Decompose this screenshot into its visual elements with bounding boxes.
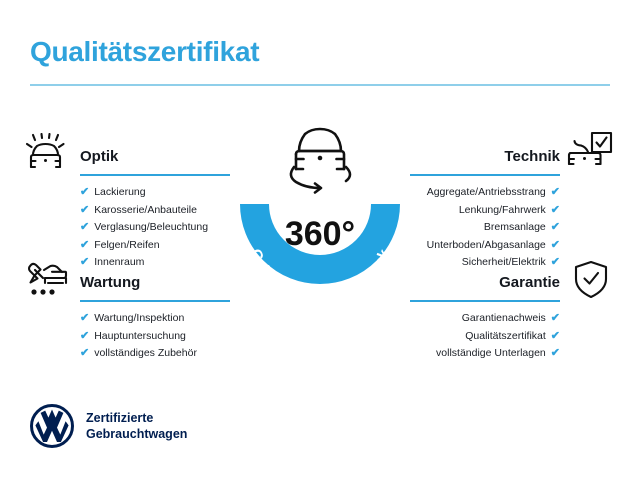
list-item-label: Lackierung <box>94 184 145 202</box>
shield-check-icon <box>570 259 612 301</box>
page-title: Qualitätszertifikat <box>30 36 259 68</box>
vw-logo <box>30 404 74 448</box>
section-wartung: Wartung ✔Wartung/Inspektion ✔Hauptunters… <box>80 272 230 363</box>
car-rotate-icon <box>291 129 350 193</box>
list-item-label: Garantienachweis <box>462 310 546 328</box>
list-item-label: Bremsanlage <box>484 219 546 237</box>
section-technik-header: Technik <box>410 146 560 176</box>
section-optik-list: ✔Lackierung ✔Karosserie/Anbauteile ✔Verg… <box>80 184 230 272</box>
section-wartung-title: Wartung <box>80 272 230 294</box>
list-item-label: Hauptuntersuchung <box>94 328 186 346</box>
section-technik: Technik Aggregate/Antriebsstrang✔ Lenkun… <box>410 146 560 272</box>
list-item-label: vollständige Unterlagen <box>436 345 546 363</box>
section-optik-title: Optik <box>80 146 230 168</box>
section-garantie-divider <box>410 300 560 302</box>
list-item-label: Qualitätszertifikat <box>465 328 546 346</box>
section-technik-divider <box>410 174 560 176</box>
check-icon: ✔ <box>551 240 560 251</box>
list-item: ✔Lackierung <box>80 184 230 202</box>
check-icon: ✔ <box>551 222 560 233</box>
section-wartung-header: Wartung <box>80 272 230 302</box>
check-icon: ✔ <box>80 348 89 359</box>
list-item: Bremsanlage✔ <box>410 219 560 237</box>
check-icon: ✔ <box>551 257 560 268</box>
list-item: Sicherheit/Elektrik✔ <box>410 254 560 272</box>
check-icon: ✔ <box>80 222 89 233</box>
section-wartung-divider <box>80 300 230 302</box>
list-item-label: Unterboden/Abgasanlage <box>427 237 546 255</box>
check-icon: ✔ <box>551 313 560 324</box>
list-item: Lenkung/Fahrwerk✔ <box>410 202 560 220</box>
footer-text: Zertifizierte Gebrauchtwagen <box>86 410 187 442</box>
check-icon: ✔ <box>80 187 89 198</box>
section-garantie: Garantie Garantienachweis✔ Qualitätszert… <box>410 272 560 363</box>
list-item: Aggregate/Antriebsstrang✔ <box>410 184 560 202</box>
badge-360-gebrauchtwagen-check: 360° Gebrauchtwagen-Check <box>228 112 412 308</box>
list-item-label: Sicherheit/Elektrik <box>462 254 546 272</box>
list-item: Unterboden/Abgasanlage✔ <box>410 237 560 255</box>
badge-center-label: 360° <box>285 215 355 253</box>
list-item-label: Lenkung/Fahrwerk <box>459 202 546 220</box>
list-item-label: Innenraum <box>94 254 144 272</box>
check-icon: ✔ <box>80 313 89 324</box>
list-item: Garantienachweis✔ <box>410 310 560 328</box>
footer-brand: Zertifizierte Gebrauchtwagen <box>30 404 187 448</box>
section-technik-title: Technik <box>410 146 560 168</box>
list-item: vollständige Unterlagen✔ <box>410 345 560 363</box>
check-icon: ✔ <box>551 187 560 198</box>
list-item: ✔Karosserie/Anbauteile <box>80 202 230 220</box>
list-item-label: vollständiges Zubehör <box>94 345 197 363</box>
list-item-label: Verglasung/Beleuchtung <box>94 219 208 237</box>
section-garantie-list: Garantienachweis✔ Qualitätszertifikat✔ v… <box>410 310 560 363</box>
list-item: ✔Hauptuntersuchung <box>80 328 230 346</box>
section-optik-divider <box>80 174 230 176</box>
check-icon: ✔ <box>80 257 89 268</box>
section-garantie-header: Garantie <box>410 272 560 302</box>
list-item-label: Karosserie/Anbauteile <box>94 202 197 220</box>
section-wartung-list: ✔Wartung/Inspektion ✔Hauptuntersuchung ✔… <box>80 310 230 363</box>
list-item: ✔Wartung/Inspektion <box>80 310 230 328</box>
list-item-label: Felgen/Reifen <box>94 237 159 255</box>
list-item: ✔Verglasung/Beleuchtung <box>80 219 230 237</box>
section-garantie-title: Garantie <box>410 272 560 294</box>
list-item-label: Wartung/Inspektion <box>94 310 184 328</box>
section-optik: Optik ✔Lackierung ✔Karosserie/Anbauteile… <box>80 146 230 272</box>
list-item: ✔Felgen/Reifen <box>80 237 230 255</box>
car-inspection-lamp-icon <box>24 133 72 175</box>
list-item: ✔Innenraum <box>80 254 230 272</box>
list-item: ✔vollständiges Zubehör <box>80 345 230 363</box>
check-icon: ✔ <box>80 240 89 251</box>
title-divider <box>30 84 610 86</box>
check-icon: ✔ <box>80 205 89 216</box>
list-item-label: Aggregate/Antriebsstrang <box>427 184 546 202</box>
check-icon: ✔ <box>551 348 560 359</box>
check-icon: ✔ <box>80 331 89 342</box>
check-icon: ✔ <box>551 331 560 342</box>
car-checkbox-icon <box>566 131 614 173</box>
car-service-wrench-icon <box>24 259 72 301</box>
list-item: Qualitätszertifikat✔ <box>410 328 560 346</box>
section-technik-list: Aggregate/Antriebsstrang✔ Lenkung/Fahrwe… <box>410 184 560 272</box>
section-optik-header: Optik <box>80 146 230 176</box>
check-icon: ✔ <box>551 205 560 216</box>
